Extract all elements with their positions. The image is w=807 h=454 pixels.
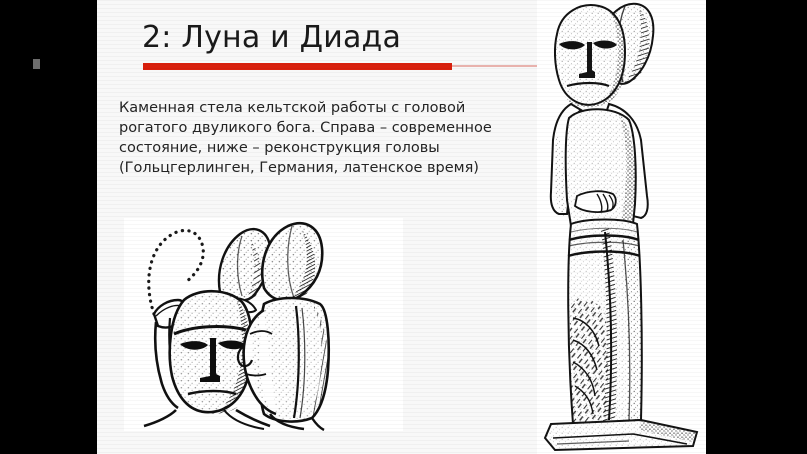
stone-stele-statue-photo (537, 0, 706, 454)
body-line-3: состояние, ниже – реконструкция головы (119, 138, 549, 158)
letterbox-right (706, 0, 807, 454)
slide-viewport: 2: Луна и Диада Каменная стела кельтской… (0, 0, 807, 454)
statue-torso (551, 104, 648, 226)
slide-canvas: 2: Луна и Диада Каменная стела кельтской… (97, 0, 706, 454)
head-reconstruction-drawing (124, 218, 403, 431)
body-line-2: рогатого двуликого бога. Справа – соврем… (119, 118, 549, 138)
body-line-1: Каменная стела кельтской работы с голово… (119, 98, 549, 118)
statue-plinth (545, 420, 697, 450)
body-line-4: (Гольцгерлинген, Германия, латенское вре… (119, 158, 549, 178)
slide-body-text: Каменная стела кельтской работы с голово… (119, 98, 549, 178)
statue-lower-body (568, 220, 642, 425)
statue-head (555, 4, 653, 107)
page-title: 2: Луна и Диада (142, 20, 401, 56)
letterbox-left (0, 0, 97, 454)
player-artifact-mark (33, 59, 40, 69)
title-underline-accent (143, 63, 452, 70)
